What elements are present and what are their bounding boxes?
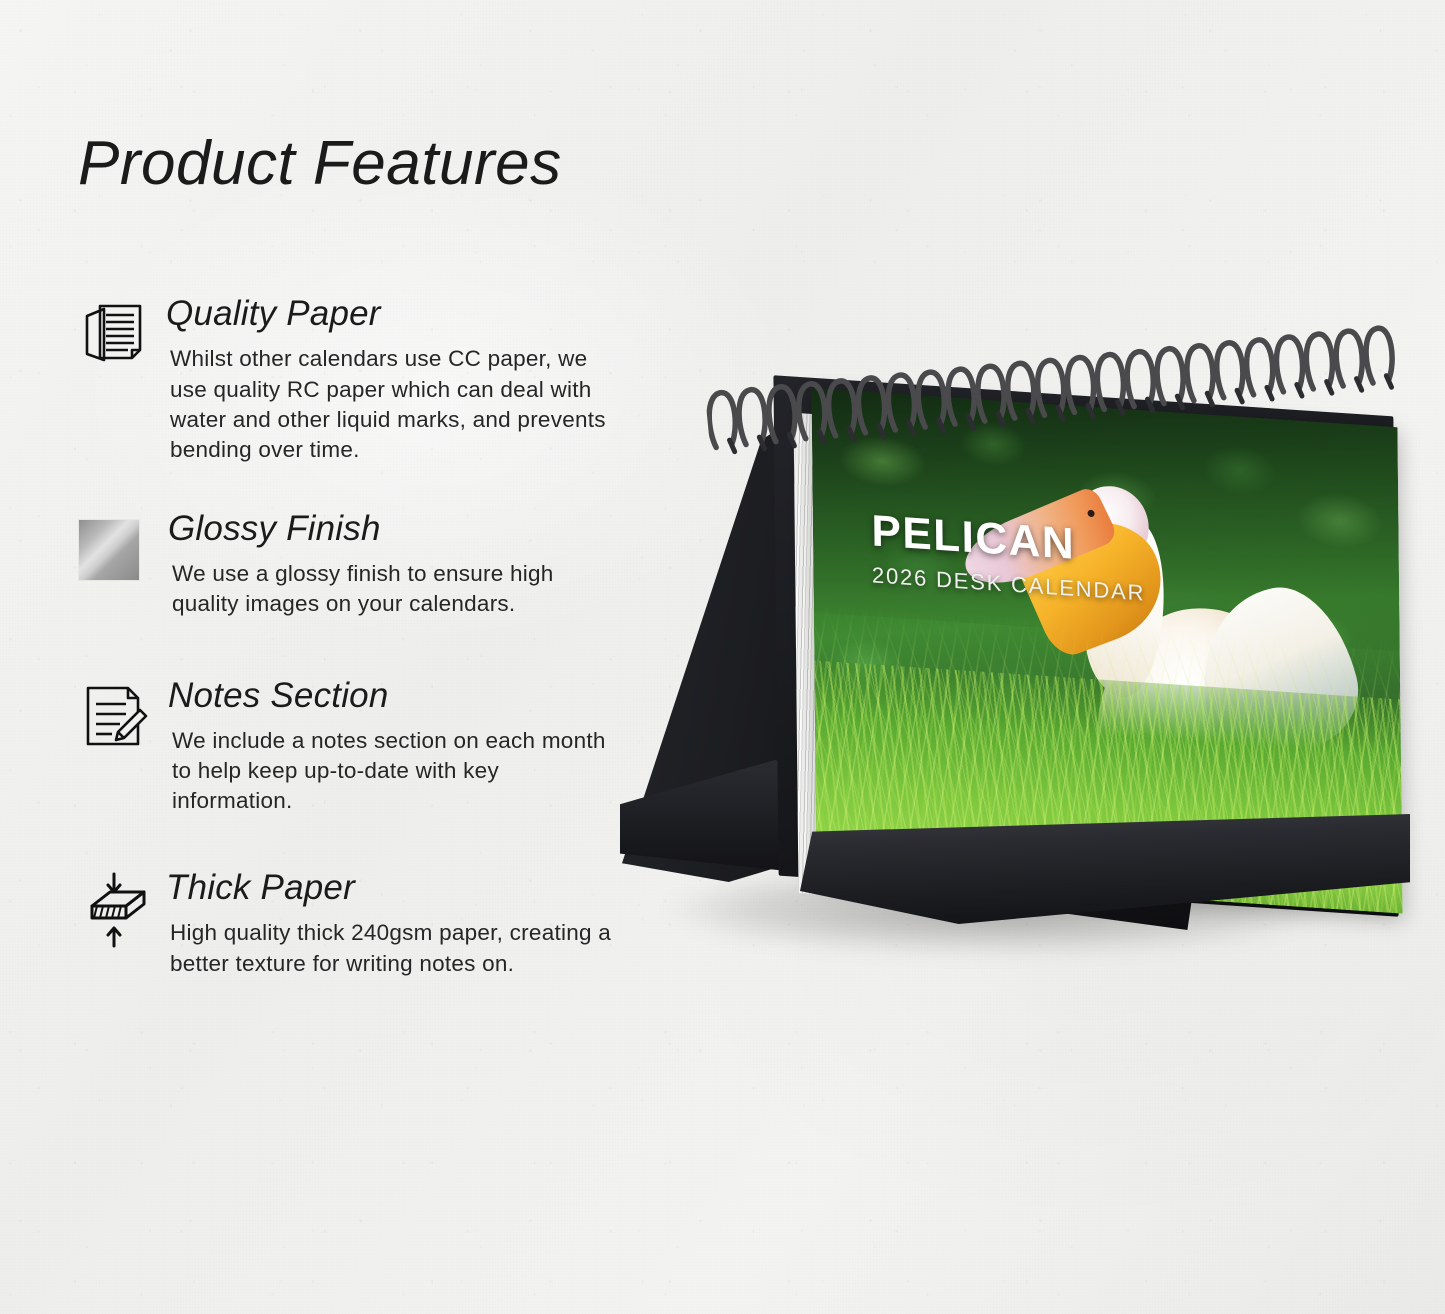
- features-column: Product Features Quality Paper Whilst ot…: [78, 130, 633, 1025]
- page-title: Product Features: [78, 130, 633, 198]
- feature-body: Thick Paper High quality thick 240gsm pa…: [166, 868, 633, 979]
- feature-body: Notes Section We include a notes section…: [168, 676, 633, 817]
- feature-notes-section: Notes Section We include a notes section…: [78, 676, 633, 817]
- feature-title: Quality Paper: [166, 294, 633, 334]
- product-photo-desk-calendar: PELICAN 2026 DESK CALENDAR: [600, 330, 1420, 990]
- feature-body: Quality Paper Whilst other calendars use…: [166, 294, 633, 465]
- note-pencil-icon: [78, 680, 152, 754]
- feature-title: Thick Paper: [166, 868, 633, 908]
- glossy-swatch-icon: [78, 519, 152, 593]
- feature-description: Whilst other calendars use CC paper, we …: [170, 344, 622, 465]
- feature-description: We use a glossy finish to ensure high qu…: [172, 559, 624, 619]
- feature-body: Glossy Finish We use a glossy finish to …: [168, 509, 633, 620]
- thick-slab-icon: [74, 868, 158, 952]
- feature-description: High quality thick 240gsm paper, creatin…: [170, 918, 622, 978]
- gloss-gradient-swatch: [78, 519, 140, 581]
- feature-title: Glossy Finish: [168, 509, 633, 549]
- feature-thick-paper: Thick Paper High quality thick 240gsm pa…: [78, 868, 633, 979]
- feature-description: We include a notes section on each month…: [172, 726, 624, 816]
- feature-quality-paper: Quality Paper Whilst other calendars use…: [78, 294, 633, 465]
- stacked-papers-icon: [78, 298, 152, 372]
- feature-title: Notes Section: [168, 676, 633, 716]
- feature-glossy-finish: Glossy Finish We use a glossy finish to …: [78, 509, 633, 620]
